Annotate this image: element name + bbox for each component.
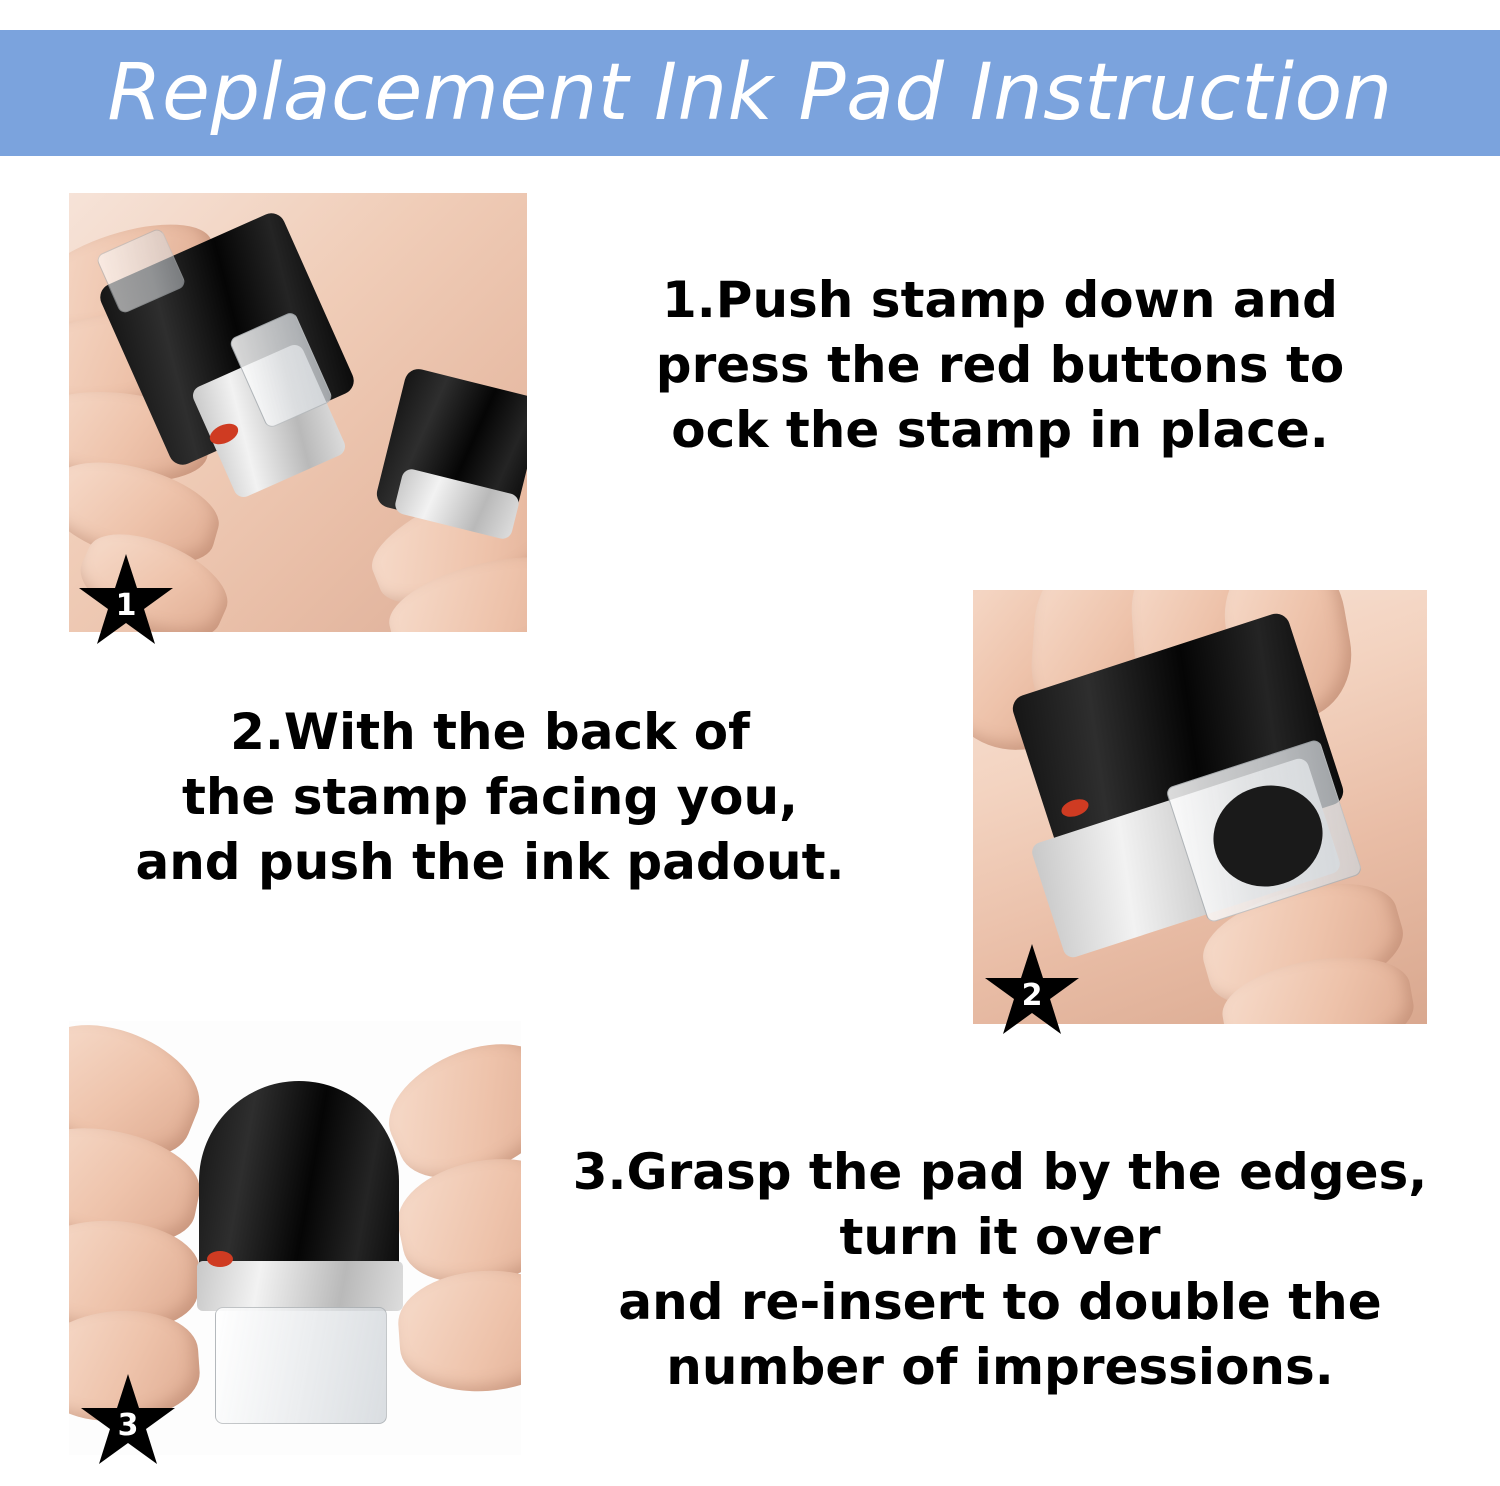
- step-badge-2-label: 2: [982, 942, 1082, 1042]
- step-badge-1: 1: [76, 552, 176, 652]
- page-title: Replacement Ink Pad Instruction: [107, 54, 1392, 132]
- stamp-body: [199, 1081, 399, 1281]
- red-button: [207, 1251, 233, 1267]
- header-banner: Replacement Ink Pad Instruction: [0, 30, 1500, 156]
- step-3-text: 3.Grasp the pad by the edges, turn it ov…: [520, 1140, 1480, 1400]
- step-badge-3: 3: [78, 1372, 178, 1472]
- ink-pad: [215, 1307, 387, 1424]
- step-badge-3-label: 3: [78, 1372, 178, 1472]
- step-badge-1-label: 1: [76, 552, 176, 652]
- stamp-collar: [197, 1261, 403, 1311]
- step-1-text: 1.Push stamp down and press the red butt…: [560, 268, 1440, 463]
- step-2-text: 2.With the back of the stamp facing you,…: [40, 700, 940, 895]
- step-badge-2: 2: [982, 942, 1082, 1042]
